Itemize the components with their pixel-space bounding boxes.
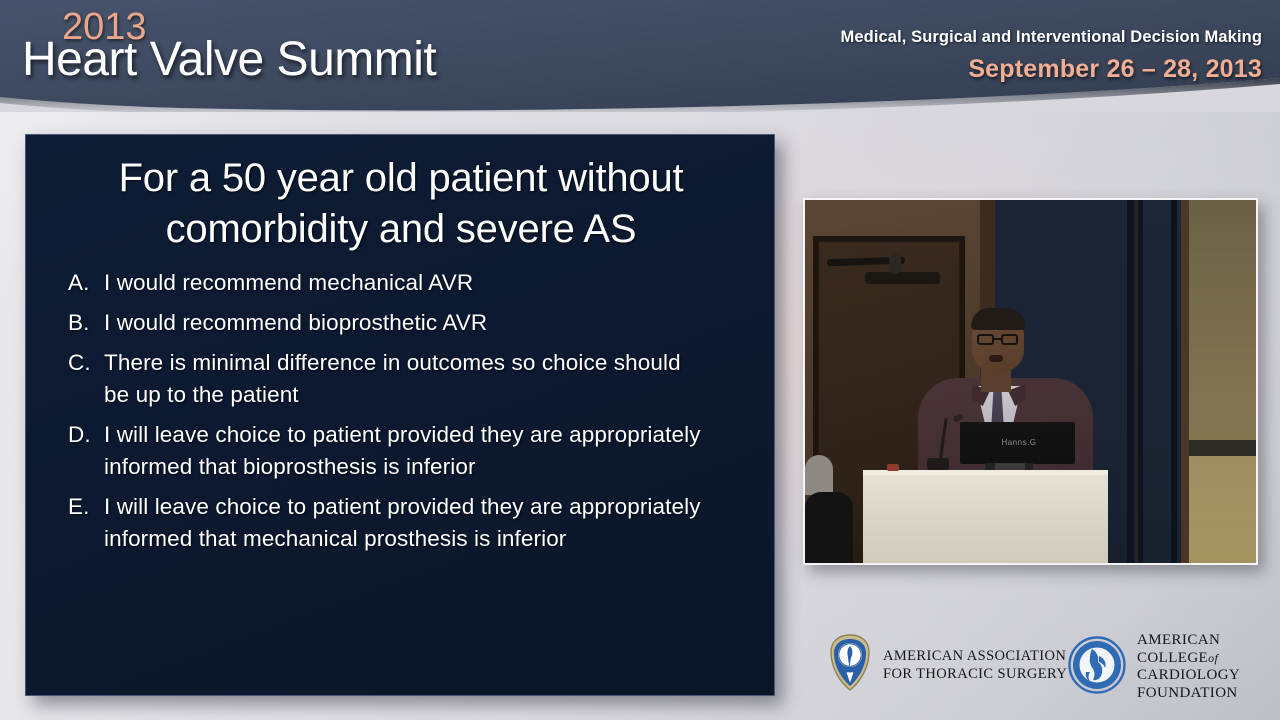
presentation-viewer: 2013 Heart Valve Summit Medical, Surgica… [0, 0, 1280, 720]
list-item[interactable]: D. I will leave choice to patient provid… [68, 419, 758, 483]
answer-choice-list: A. I would recommend mechanical AVR B. I… [68, 267, 758, 563]
speaker-mouth [989, 355, 1003, 362]
list-item[interactable]: A. I would recommend mechanical AVR [68, 267, 758, 299]
accf-seal-icon [1068, 636, 1126, 699]
video-wall-right-lower [1189, 456, 1258, 565]
aats-logo-text: AMERICAN ASSOCIATION FOR THORACIC SURGER… [883, 648, 1067, 682]
event-header-banner: 2013 Heart Valve Summit Medical, Surgica… [0, 0, 1280, 112]
slide-title: For a 50 year old patient without comorb… [56, 153, 746, 255]
choice-letter: E. [68, 491, 104, 523]
microphone-base [927, 458, 949, 470]
aats-line-1: AMERICAN ASSOCIATION [883, 648, 1067, 665]
choice-text: I will leave choice to patient provided … [104, 419, 704, 483]
lectern [863, 470, 1109, 565]
header-dates: September 26 – 28, 2013 [968, 55, 1262, 84]
choice-text: I would recommend mechanical AVR [104, 267, 704, 299]
speaker-hair [971, 308, 1025, 330]
list-item[interactable]: B. I would recommend bioprosthetic AVR [68, 307, 758, 339]
choice-text: There is minimal difference in outcomes … [104, 347, 704, 411]
aats-logo: AMERICAN ASSOCIATION FOR THORACIC SURGER… [828, 634, 1067, 697]
accf-line-3: CARDIOLOGY [1137, 667, 1240, 685]
list-item[interactable]: E. I will leave choice to patient provid… [68, 491, 758, 555]
header-title: Heart Valve Summit [22, 36, 436, 84]
aats-line-2: FOR THORACIC SURGERY [883, 666, 1067, 683]
choice-letter: C. [68, 347, 104, 379]
video-door-closer-knob [889, 254, 901, 274]
accf-line-4: FOUNDATION [1137, 685, 1240, 703]
list-item[interactable]: C. There is minimal difference in outcom… [68, 347, 758, 411]
audience-body [805, 492, 853, 565]
accf-of: of [1208, 651, 1218, 665]
header-subtitle: Medical, Surgical and Interventional Dec… [841, 28, 1262, 47]
sponsor-logo-row: AMERICAN ASSOCIATION FOR THORACIC SURGER… [820, 626, 1260, 708]
glasses-bridge [993, 338, 1002, 340]
glasses-icon [1001, 334, 1018, 345]
choice-text: I would recommend bioprosthetic AVR [104, 307, 704, 339]
svg-text:Hanns.G: Hanns.G [1001, 438, 1036, 447]
monitor-brand-glyph: Hanns.G [993, 437, 1045, 447]
choice-letter: D. [68, 419, 104, 451]
video-backdrop-stripe [1171, 200, 1177, 565]
accf-logo: AMERICAN COLLEGEof CARDIOLOGY FOUNDATION [1068, 632, 1240, 703]
speaker-video-panel[interactable]: Hanns.G Speaker at podium presenting in … [803, 198, 1258, 565]
accf-line-2-row: COLLEGEof [1137, 650, 1240, 668]
lectern-indicator [887, 464, 899, 471]
video-door-closer-body [865, 272, 940, 284]
video-wall-band [1189, 440, 1258, 456]
lectern-top-edge [863, 470, 1108, 475]
video-wall-trim [1181, 200, 1189, 565]
aats-shield-icon [828, 634, 872, 697]
slide-panel: For a 50 year old patient without comorb… [25, 134, 775, 696]
accf-logo-text: AMERICAN COLLEGEof CARDIOLOGY FOUNDATION [1137, 632, 1240, 703]
choice-letter: B. [68, 307, 104, 339]
accf-line-2: COLLEGE [1137, 650, 1208, 666]
audience-head [805, 455, 833, 495]
monitor-brand-label: Hanns.G [993, 434, 1045, 444]
video-backdrop-stripe [1127, 200, 1134, 565]
glasses-icon [977, 334, 994, 345]
choice-letter: A. [68, 267, 104, 299]
choice-text: I will leave choice to patient provided … [104, 491, 704, 555]
accf-line-1: AMERICAN [1137, 632, 1240, 650]
